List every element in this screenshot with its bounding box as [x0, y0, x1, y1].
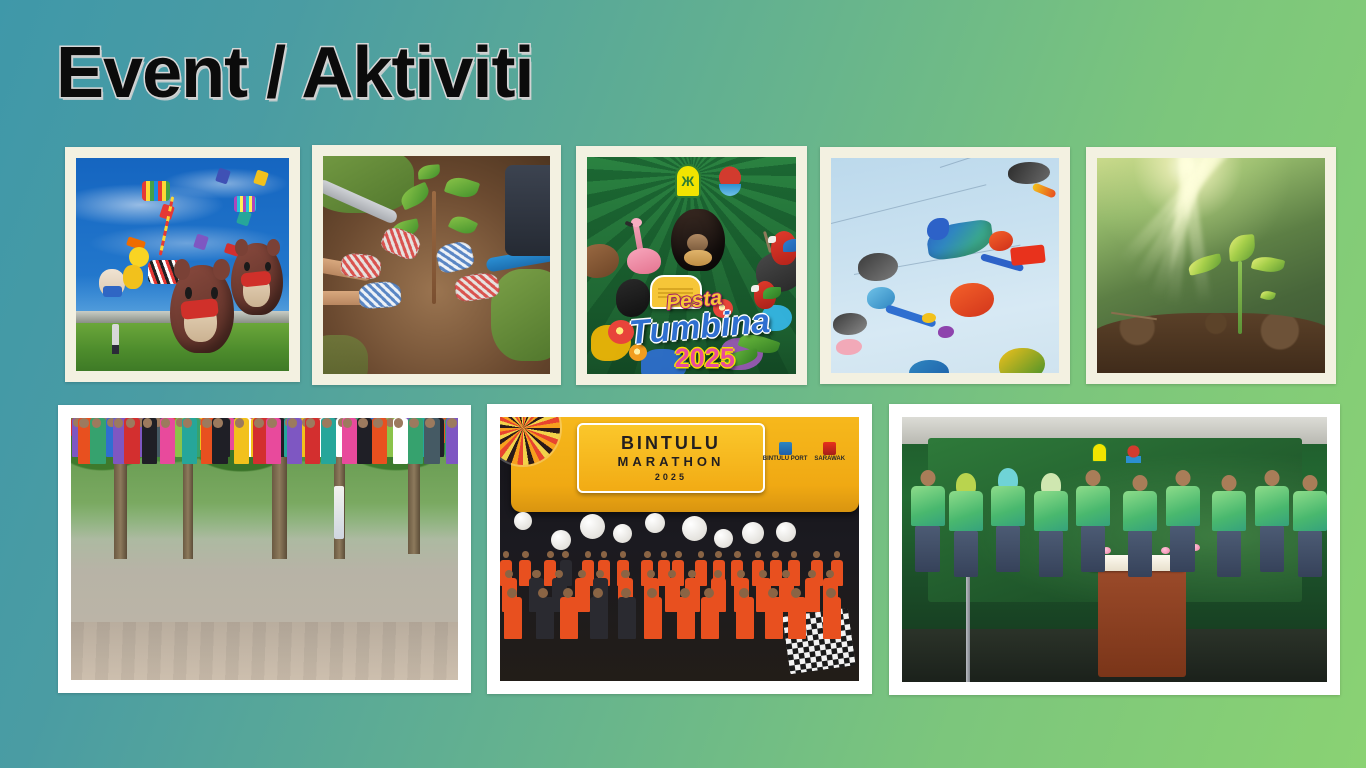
person-head — [409, 418, 419, 428]
runner — [736, 597, 754, 639]
photo-frame-tree-planting[interactable] — [312, 145, 561, 385]
runner — [618, 597, 636, 639]
legs — [1217, 531, 1241, 577]
runner-head — [555, 570, 563, 578]
runner-head — [563, 588, 573, 598]
photo-frame-kite-festival[interactable] — [65, 147, 300, 382]
marathon-sign: BINTULU MARATHON 2025 — [577, 423, 765, 493]
person-head — [143, 418, 153, 428]
hornbill-icon — [616, 279, 650, 317]
kite-icon — [909, 360, 949, 373]
green-polo-shirt — [911, 486, 945, 526]
person-head — [920, 470, 935, 486]
green-polo-shirt — [1255, 486, 1289, 526]
kite-icon — [253, 169, 269, 186]
soil-mound — [1097, 313, 1325, 373]
runner-head — [826, 570, 834, 578]
runner-head — [734, 551, 741, 558]
runner-head — [661, 551, 668, 558]
runner — [560, 597, 578, 639]
person-head — [1264, 470, 1279, 486]
photo-frame-animal-kites[interactable] — [820, 147, 1070, 384]
dignitary — [1076, 470, 1110, 629]
balloon — [682, 516, 707, 541]
runner-head — [621, 570, 629, 578]
spectator — [112, 324, 119, 346]
marathon-arch: BINTULU MARATHON 2025 BINTULU PORT SARAW… — [511, 417, 859, 512]
legs — [1170, 526, 1194, 572]
person-head — [447, 418, 457, 428]
glove-red-icon — [340, 252, 382, 280]
runner-head — [585, 551, 592, 558]
balloon — [714, 529, 733, 548]
photo-frame-bintulu-marathon[interactable]: BINTULU MARATHON 2025 BINTULU PORT SARAW… — [487, 404, 872, 694]
runner-head — [834, 551, 841, 558]
legs — [1128, 531, 1152, 577]
dignitary — [1034, 475, 1068, 634]
person-head — [1222, 475, 1237, 491]
balloon — [613, 524, 632, 543]
runner-head — [647, 588, 657, 598]
person-head — [79, 418, 89, 428]
kite-icon — [1010, 245, 1046, 266]
runner-head — [782, 570, 790, 578]
dignitary — [1255, 470, 1289, 629]
kite-icon — [215, 167, 231, 184]
sun-bear-icon — [671, 209, 725, 271]
sponsor-label: SARAWAK — [814, 456, 845, 462]
person-head — [358, 418, 368, 428]
runner — [701, 597, 719, 639]
runner-head — [505, 570, 513, 578]
sprout-stem — [1238, 261, 1242, 334]
photo-tree-planting — [323, 156, 550, 374]
paved-ground — [71, 622, 458, 680]
runner — [765, 597, 783, 639]
runner-head — [532, 570, 540, 578]
poster-pesta-tumbina: Ж — [587, 157, 796, 374]
balloon — [551, 530, 571, 550]
person-head — [202, 418, 212, 428]
runner-head — [791, 588, 801, 598]
person-head — [92, 418, 102, 428]
person-head — [235, 418, 245, 428]
kite-icon — [142, 181, 170, 201]
animal-silhouette — [587, 244, 619, 278]
balloon — [742, 522, 764, 544]
green-polo-shirt — [1034, 491, 1068, 531]
runner-head — [715, 551, 722, 558]
person-head — [425, 418, 435, 428]
arm — [505, 165, 550, 257]
green-polo-shirt — [1293, 491, 1327, 531]
kite-streamer — [1031, 182, 1056, 198]
bear-chest-crest — [684, 250, 712, 266]
globe-emblem-logo-icon — [1126, 445, 1141, 463]
person-head — [183, 418, 193, 428]
event-banner — [334, 486, 344, 538]
leaf-icon — [1228, 235, 1256, 263]
runner-head — [547, 551, 554, 558]
runner-head — [826, 588, 836, 598]
leaf-icon — [1251, 254, 1285, 275]
kite-icon — [999, 348, 1045, 373]
poster-word-year: 2025 — [675, 345, 735, 372]
dinosaur-kite-icon — [950, 283, 994, 317]
runner-head — [593, 588, 603, 598]
marathon-subtitle: MARATHON — [618, 452, 725, 472]
green-polo-shirt — [1212, 491, 1246, 531]
runner-head — [739, 588, 749, 598]
person-head — [1086, 470, 1101, 486]
kite-icon — [234, 196, 256, 212]
duck-kite-icon — [123, 265, 143, 289]
photo-seedling — [1097, 158, 1325, 373]
person-head — [288, 418, 298, 428]
person-head — [254, 418, 264, 428]
marathon-title: BINTULU — [621, 434, 721, 452]
runner-head — [680, 588, 690, 598]
sponsor-label: BINTULU PORT — [763, 456, 808, 462]
runner — [536, 597, 554, 639]
runner-head — [772, 551, 779, 558]
person-head — [267, 418, 277, 428]
runner-head — [503, 551, 510, 558]
photo-bintulu-marathon: BINTULU MARATHON 2025 BINTULU PORT SARAW… — [500, 417, 859, 681]
legs — [1260, 526, 1284, 572]
runner-head — [522, 551, 529, 558]
runner — [644, 597, 662, 639]
runner-head — [578, 570, 586, 578]
person-head — [213, 418, 223, 428]
runner-head — [813, 551, 820, 558]
glove-blue-icon — [358, 281, 402, 310]
green-polo-shirt — [1123, 491, 1157, 531]
runner — [823, 597, 841, 639]
chipmunk-kite-icon — [170, 265, 234, 353]
seahorse-head — [927, 218, 949, 240]
runner-head — [601, 551, 608, 558]
person-head — [1133, 475, 1148, 491]
dignitary — [949, 475, 983, 634]
runner-head — [562, 551, 569, 558]
person-head — [343, 418, 353, 428]
leaf-icon — [443, 173, 479, 201]
runner-head — [675, 551, 682, 558]
dignitary — [1166, 470, 1200, 629]
bda-shield-logo-icon — [1092, 443, 1107, 462]
runner-head — [596, 570, 604, 578]
runner — [590, 597, 608, 639]
sponsor-bintulu-port: BINTULU PORT — [763, 442, 808, 463]
green-polo-shirt — [1166, 486, 1200, 526]
runner-head — [621, 588, 631, 598]
person-head — [1175, 470, 1190, 486]
leaf-icon — [418, 164, 441, 180]
person-head — [126, 418, 136, 428]
photo-frame-seedling[interactable] — [1086, 147, 1336, 384]
dignitary — [1123, 475, 1157, 634]
bear-kite-icon — [99, 269, 125, 297]
runner-head — [768, 588, 778, 598]
legs — [954, 531, 978, 577]
kite-icon — [938, 326, 954, 338]
runner-head — [737, 570, 745, 578]
runner-head — [647, 570, 655, 578]
bird-kite-icon — [1008, 162, 1050, 184]
person-head — [306, 418, 316, 428]
photo-cake-ceremony — [902, 417, 1327, 682]
bird-kite-icon — [833, 313, 867, 335]
grass — [323, 335, 368, 374]
runner-head — [644, 551, 651, 558]
dignitary — [1293, 475, 1327, 634]
runner-head — [714, 570, 722, 578]
balloon — [645, 513, 665, 533]
sponsor-logos: BINTULU PORT SARAWAK — [763, 442, 845, 463]
person-head — [114, 418, 124, 428]
page-title: Event / Aktiviti — [56, 36, 533, 112]
runner-head — [791, 551, 798, 558]
runner-head — [698, 551, 705, 558]
photo-kite-festival — [76, 158, 289, 371]
chipmunk-kite-icon — [231, 243, 283, 315]
marathon-year: 2025 — [655, 472, 687, 482]
photo-frame-pesta-tumbina[interactable]: Ж — [576, 146, 807, 385]
legs — [1081, 526, 1105, 572]
sponsor-sarawak: SARAWAK — [814, 442, 845, 463]
legs — [1298, 531, 1322, 577]
person-head — [1303, 475, 1318, 491]
runner — [677, 597, 695, 639]
bird-kite-icon — [858, 253, 898, 281]
kite-icon — [836, 339, 862, 355]
runner — [788, 597, 806, 639]
green-polo-shirt — [949, 491, 983, 531]
person-head — [394, 418, 404, 428]
dignitary — [911, 470, 945, 629]
leaf-icon — [1260, 290, 1276, 303]
person-head — [322, 418, 332, 428]
person-head — [161, 418, 171, 428]
bda-shield-logo-icon: Ж — [675, 164, 701, 198]
leaf-icon — [448, 212, 478, 238]
balloon — [580, 514, 605, 539]
person-head — [373, 418, 383, 428]
runner-head — [755, 551, 762, 558]
balloon — [514, 512, 532, 530]
green-polo-shirt — [991, 486, 1025, 526]
photo-frame-group-run[interactable] — [58, 405, 471, 693]
kite-icon — [193, 233, 209, 250]
photo-group-run — [71, 418, 458, 680]
legs — [996, 526, 1020, 572]
photo-frame-cake-ceremony[interactable] — [889, 404, 1340, 695]
grass — [491, 269, 550, 361]
photo-animal-kites — [831, 158, 1059, 373]
runner-head — [507, 588, 517, 598]
glove-blue-icon — [434, 239, 476, 275]
sapling-stem — [432, 191, 436, 304]
runner — [504, 597, 522, 639]
runner — [805, 578, 820, 612]
runner-head — [759, 570, 767, 578]
balloon — [776, 522, 796, 542]
dignitary — [1212, 475, 1246, 634]
legs — [915, 526, 939, 572]
runner-head — [620, 551, 627, 558]
globe-emblem-logo-icon — [717, 166, 743, 200]
kite-string — [831, 184, 986, 224]
green-polo-shirt — [1076, 486, 1110, 526]
kite-icon — [236, 210, 252, 227]
legs — [1039, 531, 1063, 577]
dignitary — [991, 470, 1025, 629]
